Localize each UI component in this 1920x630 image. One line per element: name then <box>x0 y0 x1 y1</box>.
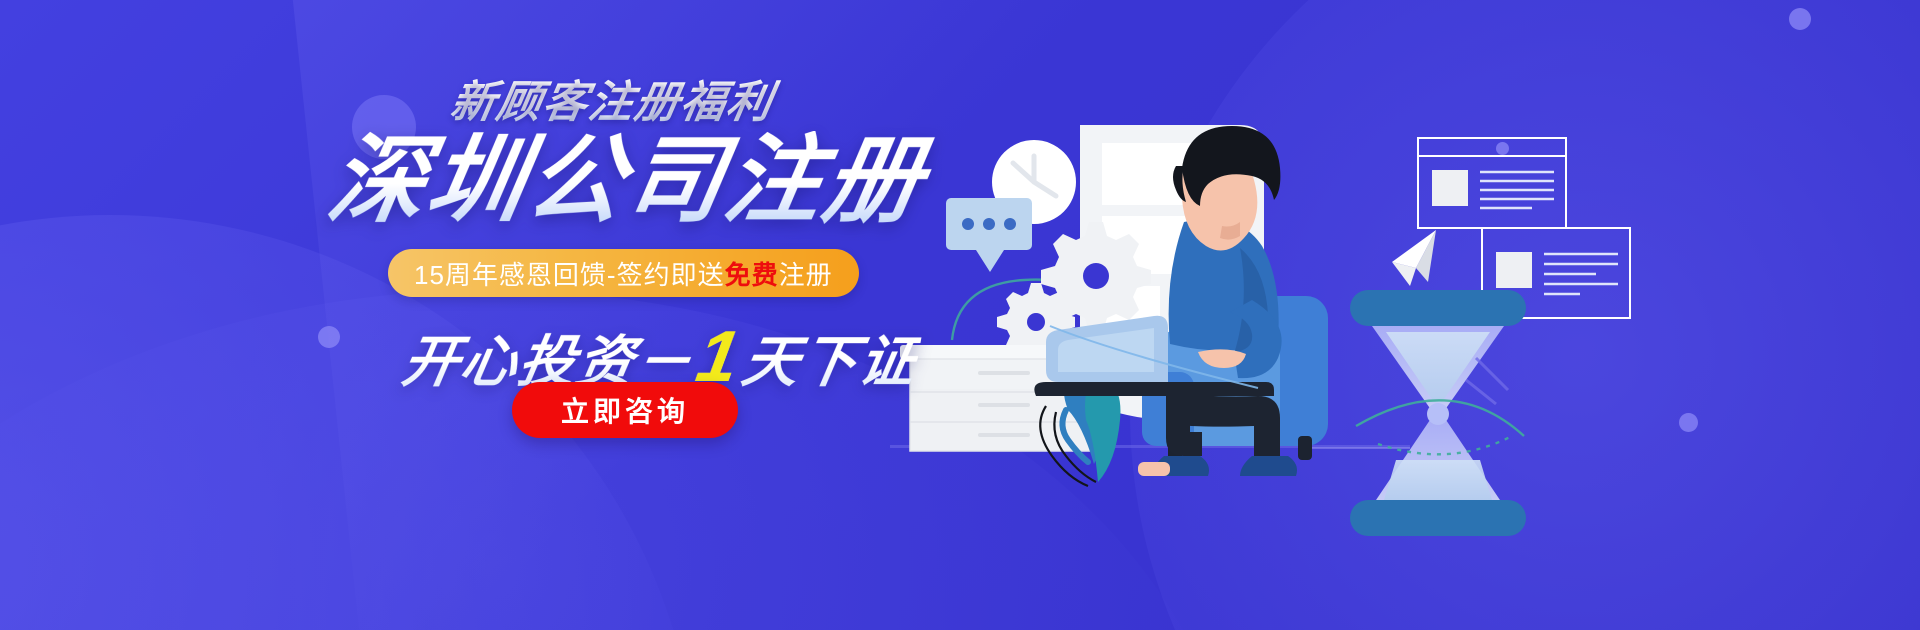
consult-now-button[interactable]: 立即咨询 <box>512 382 738 438</box>
promo-badge-suffix: 注册 <box>779 255 833 292</box>
banner-copy: 新顾客注册福利 深圳公司注册 15周年感恩回馈-签约即送免费注册 开心投资－1天… <box>0 0 980 630</box>
promo-banner: 新顾客注册福利 深圳公司注册 15周年感恩回馈-签约即送免费注册 开心投资－1天… <box>0 0 1920 630</box>
promo-badge: 15周年感恩回馈-签约即送免费注册 <box>388 249 859 297</box>
hourglass-icon <box>1350 290 1526 536</box>
consult-now-label: 立即咨询 <box>561 390 689 430</box>
paper-plane-icon <box>1392 230 1436 286</box>
tagline-after: 天下证 <box>738 330 923 393</box>
hero-illustration <box>880 0 1920 630</box>
page-title: 深圳公司注册 <box>321 131 979 232</box>
promo-badge-highlight: 免费 <box>725 255 779 292</box>
promo-badge-prefix: 15周年感恩回馈-签约即送 <box>414 255 725 292</box>
kicker-text: 新顾客注册福利 <box>446 66 877 130</box>
document-card <box>1418 138 1566 228</box>
